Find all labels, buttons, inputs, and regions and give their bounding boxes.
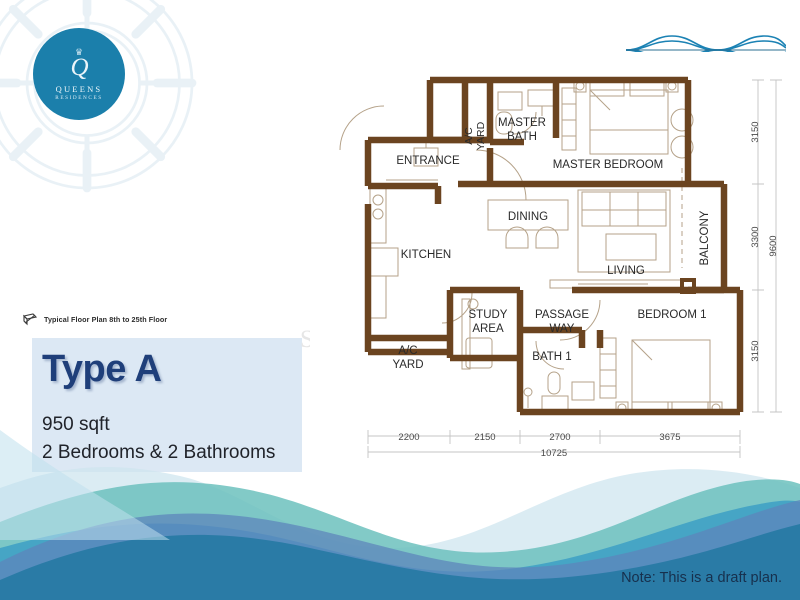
dimension-v-total: 9600 [768, 235, 779, 256]
brand-logo: ♛ Q QUEENS RESIDENCES [33, 28, 125, 120]
brand-name: QUEENS [56, 84, 103, 94]
room-label-passage-way: PASSAGE [535, 309, 589, 321]
floorplan-card: .w{stroke:#6b4420;stroke-width:6.5;strok… [310, 52, 790, 470]
room-label-passage-way-2: WAY [550, 323, 575, 335]
room-label-master-bath: MASTER [498, 117, 546, 129]
dimension-v-3: 3150 [750, 340, 761, 361]
room-label-entrance: ENTRANCE [396, 155, 460, 167]
room-label-study-area-2: AREA [472, 323, 504, 335]
room-label-master-bedroom: MASTER BEDROOM [553, 159, 664, 171]
brand-subname: RESIDENCES [55, 95, 102, 101]
room-label-ac-yard2: YARD [475, 121, 487, 150]
room-label-ac-yard: A/C [463, 127, 475, 145]
room-label-ac-yard-lower: A/C [398, 345, 417, 357]
room-label-bath-1: BATH 1 [532, 351, 571, 363]
room-label-bedroom-1: BEDROOM 1 [637, 309, 706, 321]
dimension-v-2: 3300 [750, 226, 761, 247]
caption: Typical Floor Plan 8th to 25th Floor [22, 312, 167, 326]
room-label-ac-yard-lower-2: YARD [392, 359, 423, 371]
room-label-living: LIVING [607, 265, 645, 277]
plan-marker-icon [22, 312, 38, 326]
room-label-kitchen: KITCHEN [401, 249, 451, 261]
page-title: Type A [42, 348, 161, 391]
room-label-master-bath-2: BATH [507, 131, 537, 143]
slide-canvas: ♛ Q QUEENS RESIDENCES Typical [0, 0, 800, 600]
footer-note: Note: This is a draft plan. [621, 570, 782, 586]
caption-text: Typical Floor Plan 8th to 25th Floor [44, 315, 167, 324]
seahorse-monogram-icon: Q [70, 55, 87, 81]
floorplan-drawing: .w{stroke:#6b4420;stroke-width:6.5;strok… [310, 52, 790, 470]
room-label-study-area: STUDY [469, 309, 508, 321]
room-label-dining: DINING [508, 211, 548, 223]
room-label-balcony: BALCONY [699, 210, 711, 265]
dimension-v-1: 3150 [750, 121, 761, 142]
